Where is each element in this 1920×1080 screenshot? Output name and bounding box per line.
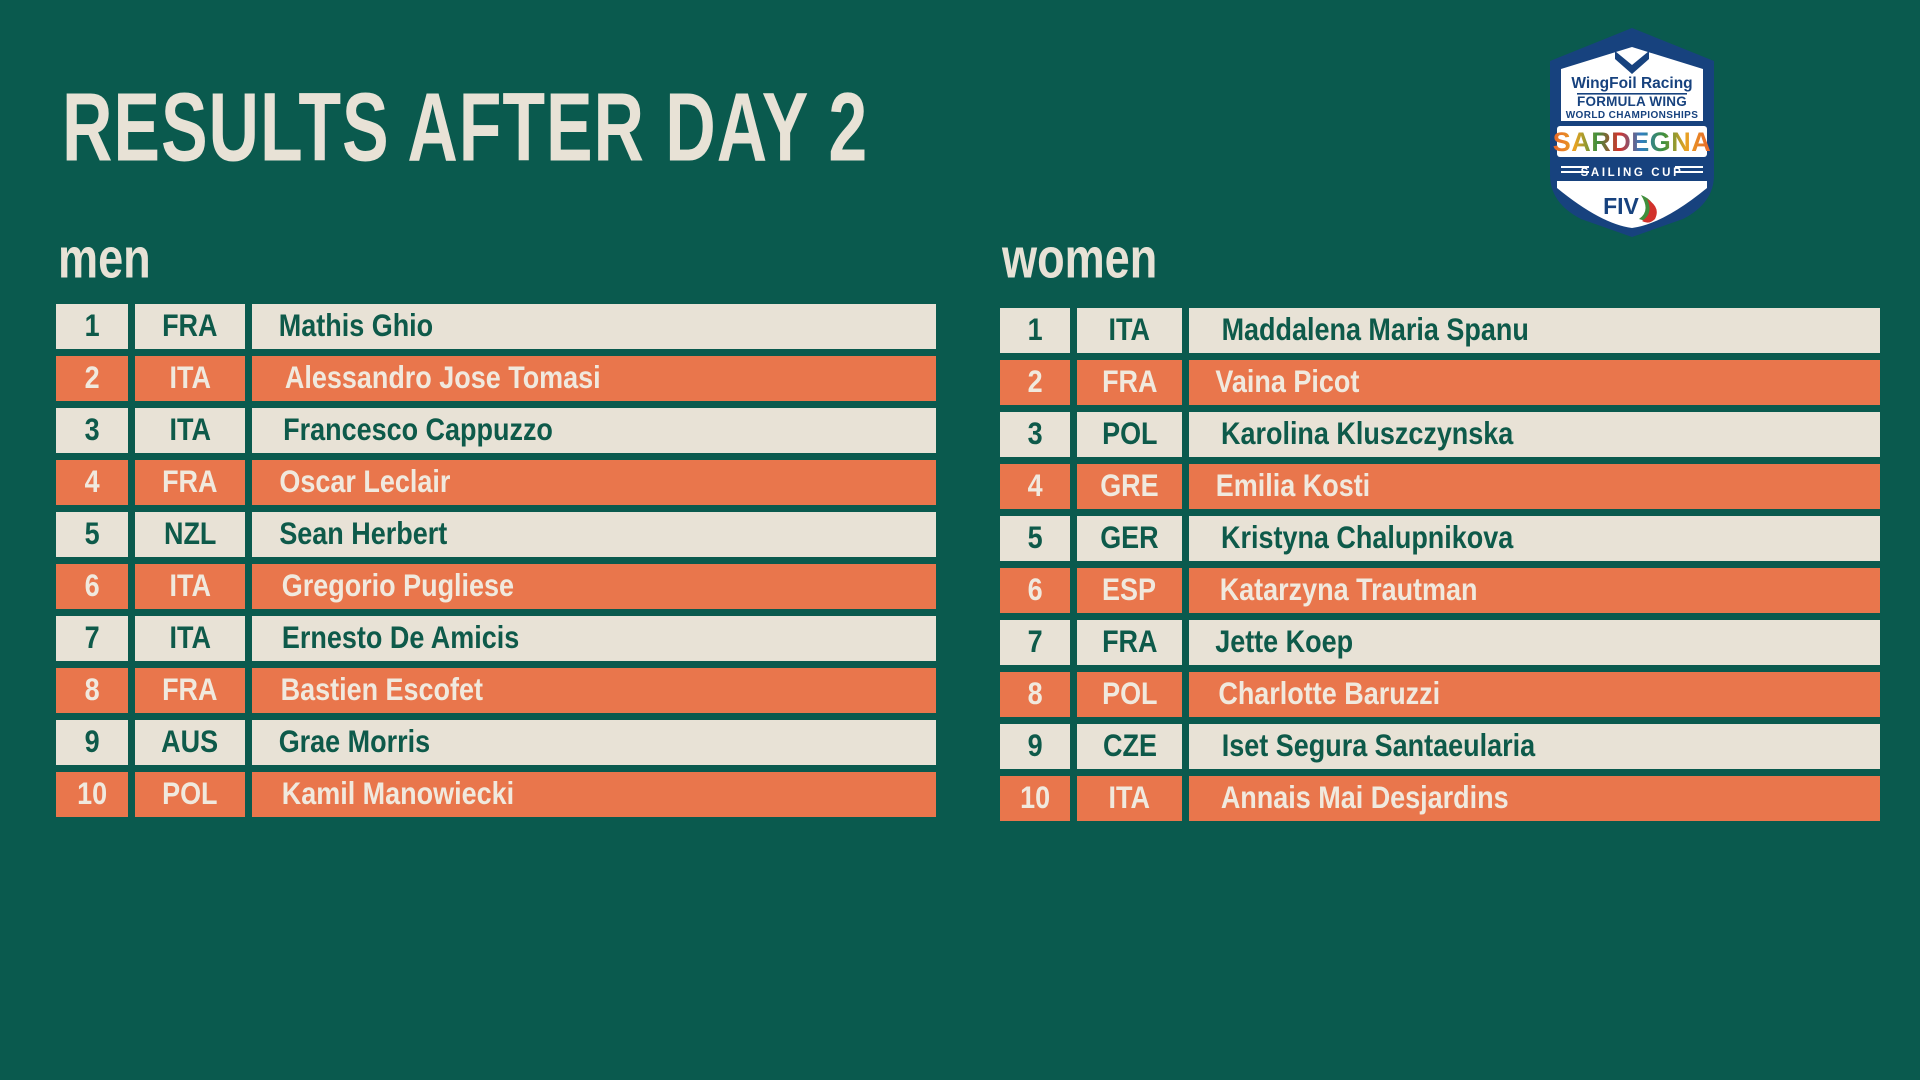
athlete-name: Jette Koep — [1215, 627, 1353, 659]
rank-cell: 8 — [1000, 672, 1070, 717]
rank-value: 8 — [1027, 679, 1042, 711]
table-row: 6ITAGregorio Pugliese — [56, 564, 936, 609]
athlete-cell: Vaina Picot — [1189, 360, 1880, 405]
rank-cell: 3 — [1000, 412, 1070, 457]
athlete-cell: Karolina Kluszczynska — [1189, 412, 1880, 457]
country-code: FRA — [1102, 367, 1157, 399]
athlete-name: Iset Segura Santaeularia — [1222, 731, 1535, 763]
section-heading-women: women — [1002, 230, 1157, 286]
rank-value: 5 — [84, 519, 99, 551]
table-row: 8POLCharlotte Baruzzi — [1000, 672, 1880, 717]
rank-value: 2 — [84, 363, 99, 395]
athlete-cell: Grae Morris — [252, 720, 936, 765]
athlete-name: Kamil Manowiecki — [282, 779, 514, 811]
athlete-name: Ernesto De Amicis — [282, 623, 519, 655]
rank-value: 7 — [1027, 627, 1042, 659]
athlete-name: Emilia Kosti — [1216, 471, 1370, 503]
rank-cell: 9 — [56, 720, 128, 765]
results-table-women: 1ITAMaddalena Maria Spanu2FRAVaina Picot… — [1000, 308, 1880, 821]
rank-value: 7 — [84, 623, 99, 655]
athlete-cell: Annais Mai Desjardins — [1189, 776, 1880, 821]
table-row: 3ITAFrancesco Cappuzzo — [56, 408, 936, 453]
country-code: ITA — [169, 363, 210, 395]
athlete-cell: Ernesto De Amicis — [252, 616, 936, 661]
rank-cell: 4 — [56, 460, 128, 505]
rank-value: 9 — [1027, 731, 1042, 763]
country-code: ITA — [169, 571, 210, 603]
table-row: 5GERKristyna Chalupnikova — [1000, 516, 1880, 561]
logo-line6: FIV — [1603, 193, 1639, 219]
rank-cell: 5 — [56, 512, 128, 557]
rank-value: 1 — [1027, 315, 1042, 347]
athlete-cell: Gregorio Pugliese — [252, 564, 936, 609]
rank-cell: 6 — [1000, 568, 1070, 613]
logo-line4: SARDEGNA — [1553, 127, 1712, 157]
athlete-cell: Sean Herbert — [252, 512, 936, 557]
rank-cell: 1 — [56, 304, 128, 349]
results-table-men: 1FRAMathis Ghio2ITAAlessandro Jose Tomas… — [56, 304, 936, 817]
athlete-cell: Alessandro Jose Tomasi — [252, 356, 936, 401]
athlete-name: Karolina Kluszczynska — [1221, 419, 1513, 451]
table-row: 6ESPKatarzyna Trautman — [1000, 568, 1880, 613]
athlete-cell: Jette Koep — [1189, 620, 1880, 665]
country-cell: FRA — [135, 304, 245, 349]
rank-cell: 1 — [1000, 308, 1070, 353]
country-code: FRA — [1102, 627, 1157, 659]
athlete-name: Annais Mai Desjardins — [1221, 783, 1509, 815]
rank-cell: 7 — [1000, 620, 1070, 665]
athlete-cell: Katarzyna Trautman — [1189, 568, 1880, 613]
table-row: 4GREEmilia Kosti — [1000, 464, 1880, 509]
athlete-cell: Emilia Kosti — [1189, 464, 1880, 509]
athlete-name: Mathis Ghio — [279, 311, 433, 343]
rank-value: 2 — [1027, 367, 1042, 399]
table-row: 7ITAErnesto De Amicis — [56, 616, 936, 661]
logo-line5: SAILING CUP — [1581, 167, 1684, 179]
rank-value: 1 — [84, 311, 99, 343]
country-cell: ITA — [1077, 308, 1182, 353]
country-cell: AUS — [135, 720, 245, 765]
country-code: GER — [1100, 523, 1158, 555]
country-cell: FRA — [1077, 620, 1182, 665]
country-cell: GRE — [1077, 464, 1182, 509]
table-row: 10ITAAnnais Mai Desjardins — [1000, 776, 1880, 821]
athlete-name: Katarzyna Trautman — [1220, 575, 1478, 607]
athlete-cell: Oscar Leclair — [252, 460, 936, 505]
country-code: ITA — [1109, 315, 1150, 347]
section-heading-men: men — [58, 230, 151, 286]
country-cell: FRA — [135, 460, 245, 505]
country-code: ESP — [1103, 575, 1157, 607]
logo-line2: FORMULA WING — [1577, 94, 1687, 109]
athlete-name: Francesco Cappuzzo — [283, 415, 553, 447]
athlete-name: Alessandro Jose Tomasi — [285, 363, 601, 395]
athlete-name: Gregorio Pugliese — [282, 571, 514, 603]
rank-cell: 10 — [1000, 776, 1070, 821]
event-logo: WingFoil Racing FORMULA WING WORLD CHAMP… — [1543, 25, 1721, 240]
rank-cell: 4 — [1000, 464, 1070, 509]
athlete-name: Kristyna Chalupnikova — [1221, 523, 1513, 555]
athlete-name: Maddalena Maria Spanu — [1222, 315, 1529, 347]
rank-cell: 3 — [56, 408, 128, 453]
logo-line3: WORLD CHAMPIONSHIPS — [1566, 110, 1699, 121]
rank-value: 10 — [77, 779, 107, 811]
athlete-cell: Mathis Ghio — [252, 304, 936, 349]
athlete-cell: Iset Segura Santaeularia — [1189, 724, 1880, 769]
athlete-name: Oscar Leclair — [279, 467, 450, 499]
country-cell: POL — [135, 772, 245, 817]
table-row: 8FRABastien Escofet — [56, 668, 936, 713]
rank-value: 8 — [84, 675, 99, 707]
results-graphic: RESULTS AFTER DAY 2 WingFoil Racing FORM… — [0, 0, 1920, 1080]
country-cell: POL — [1077, 672, 1182, 717]
rank-cell: 8 — [56, 668, 128, 713]
table-row: 5NZLSean Herbert — [56, 512, 936, 557]
table-row: 7FRAJette Koep — [1000, 620, 1880, 665]
table-row: 2ITAAlessandro Jose Tomasi — [56, 356, 936, 401]
athlete-name: Charlotte Baruzzi — [1218, 679, 1440, 711]
table-row: 9CZEIset Segura Santaeularia — [1000, 724, 1880, 769]
country-cell: POL — [1077, 412, 1182, 457]
country-cell: ITA — [135, 564, 245, 609]
country-cell: ITA — [1077, 776, 1182, 821]
country-cell: ESP — [1077, 568, 1182, 613]
country-code: FRA — [162, 675, 217, 707]
rank-value: 9 — [84, 727, 99, 759]
page-title: RESULTS AFTER DAY 2 — [62, 80, 868, 177]
rank-cell: 7 — [56, 616, 128, 661]
athlete-cell: Bastien Escofet — [252, 668, 936, 713]
rank-value: 3 — [84, 415, 99, 447]
country-code: ITA — [169, 415, 210, 447]
athlete-name: Grae Morris — [279, 727, 430, 759]
country-cell: FRA — [1077, 360, 1182, 405]
country-code: CZE — [1103, 731, 1157, 763]
table-row: 10POLKamil Manowiecki — [56, 772, 936, 817]
table-row: 9AUSGrae Morris — [56, 720, 936, 765]
country-cell: FRA — [135, 668, 245, 713]
athlete-cell: Kristyna Chalupnikova — [1189, 516, 1880, 561]
country-code: ITA — [169, 623, 210, 655]
rank-cell: 9 — [1000, 724, 1070, 769]
sardegna-sailing-cup-logo-icon: WingFoil Racing FORMULA WING WORLD CHAMP… — [1543, 25, 1721, 240]
rank-cell: 10 — [56, 772, 128, 817]
country-code: POL — [1102, 419, 1157, 451]
country-code: NZL — [164, 519, 216, 551]
table-row: 1FRAMathis Ghio — [56, 304, 936, 349]
country-code: POL — [162, 779, 217, 811]
country-code: AUS — [162, 727, 219, 759]
rank-cell: 2 — [1000, 360, 1070, 405]
country-code: ITA — [1109, 783, 1150, 815]
rank-value: 6 — [84, 571, 99, 603]
athlete-name: Sean Herbert — [279, 519, 447, 551]
country-cell: ITA — [135, 356, 245, 401]
country-cell: NZL — [135, 512, 245, 557]
table-row: 3POLKarolina Kluszczynska — [1000, 412, 1880, 457]
athlete-name: Bastien Escofet — [281, 675, 483, 707]
athlete-cell: Maddalena Maria Spanu — [1189, 308, 1880, 353]
athlete-cell: Kamil Manowiecki — [252, 772, 936, 817]
rank-cell: 5 — [1000, 516, 1070, 561]
country-cell: ITA — [135, 616, 245, 661]
rank-value: 3 — [1027, 419, 1042, 451]
athlete-cell: Charlotte Baruzzi — [1189, 672, 1880, 717]
athlete-name: Vaina Picot — [1215, 367, 1359, 399]
table-row: 2FRAVaina Picot — [1000, 360, 1880, 405]
table-row: 1ITAMaddalena Maria Spanu — [1000, 308, 1880, 353]
table-row: 4FRAOscar Leclair — [56, 460, 936, 505]
country-code: FRA — [162, 467, 217, 499]
country-cell: GER — [1077, 516, 1182, 561]
rank-value: 10 — [1020, 783, 1050, 815]
rank-cell: 2 — [56, 356, 128, 401]
rank-value: 6 — [1027, 575, 1042, 607]
rank-value: 5 — [1027, 523, 1042, 555]
athlete-cell: Francesco Cappuzzo — [252, 408, 936, 453]
country-code: GRE — [1100, 471, 1158, 503]
logo-line1: WingFoil Racing — [1571, 75, 1692, 92]
country-cell: ITA — [135, 408, 245, 453]
rank-value: 4 — [84, 467, 99, 499]
country-code: FRA — [162, 311, 217, 343]
country-cell: CZE — [1077, 724, 1182, 769]
rank-value: 4 — [1027, 471, 1042, 503]
country-code: POL — [1102, 679, 1157, 711]
rank-cell: 6 — [56, 564, 128, 609]
